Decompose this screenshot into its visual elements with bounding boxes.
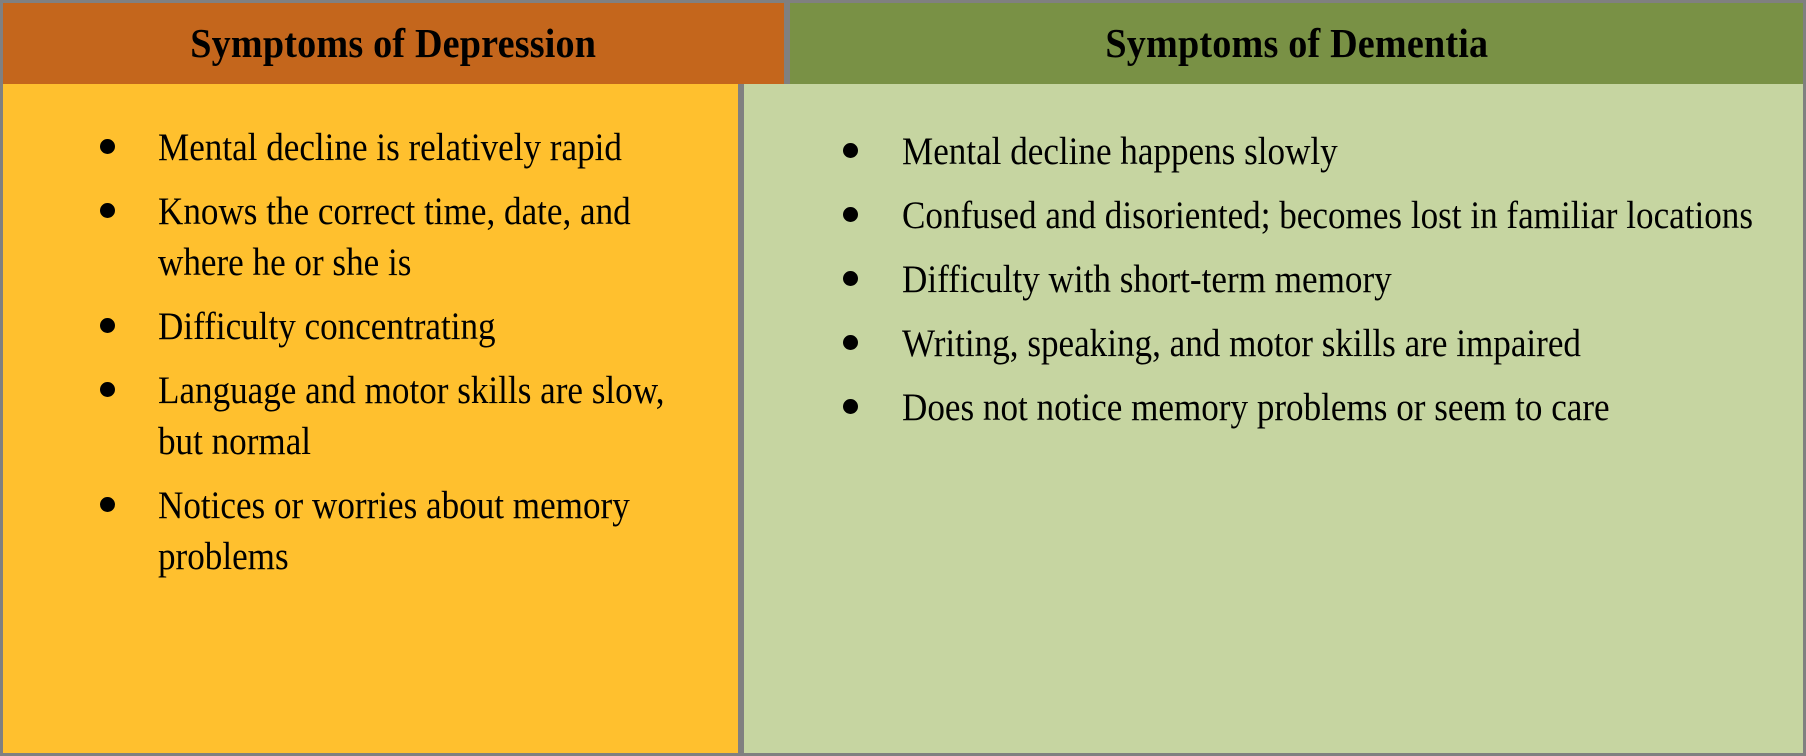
symptom-list-depression: Mental decline is relatively rapid Knows… bbox=[3, 122, 712, 582]
bullet-icon bbox=[100, 318, 115, 333]
bullet-icon bbox=[100, 382, 115, 397]
list-item-text: Language and motor skills are slow, but … bbox=[158, 365, 713, 467]
comparison-table: Symptoms of Depression Symptoms of Demen… bbox=[0, 0, 1806, 756]
body-cell-depression: Mental decline is relatively rapid Knows… bbox=[3, 84, 738, 753]
list-item-text: Difficulty with short-term memory bbox=[902, 254, 1782, 305]
list-item-text: Writing, speaking, and motor skills are … bbox=[902, 318, 1782, 369]
header-cell-depression: Symptoms of Depression bbox=[3, 3, 784, 84]
header-cell-dementia: Symptoms of Dementia bbox=[790, 3, 1803, 84]
list-item: Difficulty concentrating bbox=[3, 301, 712, 352]
column-header-dementia: Symptoms of Dementia bbox=[1105, 23, 1488, 64]
symptom-list-dementia: Mental decline happens slowly Confused a… bbox=[744, 126, 1781, 433]
list-item: Mental decline happens slowly bbox=[744, 126, 1781, 177]
list-item-text: Mental decline is relatively rapid bbox=[158, 122, 713, 173]
bullet-icon bbox=[843, 399, 858, 414]
list-item: Writing, speaking, and motor skills are … bbox=[744, 318, 1781, 369]
bullet-icon bbox=[843, 335, 858, 350]
list-item-text: Knows the correct time, date, and where … bbox=[158, 186, 713, 288]
bullet-icon bbox=[843, 143, 858, 158]
list-item-text: Difficulty concentrating bbox=[158, 301, 713, 352]
list-item: Mental decline is relatively rapid bbox=[3, 122, 712, 173]
table-header-row: Symptoms of Depression Symptoms of Demen… bbox=[0, 0, 1806, 84]
list-item: Language and motor skills are slow, but … bbox=[3, 365, 712, 467]
bullet-icon bbox=[843, 207, 858, 222]
column-header-depression: Symptoms of Depression bbox=[191, 23, 597, 64]
list-item-text: Notices or worries about memory problems bbox=[158, 480, 713, 582]
bullet-icon bbox=[100, 139, 115, 154]
list-item: Confused and disoriented; becomes lost i… bbox=[744, 190, 1781, 241]
list-item: Knows the correct time, date, and where … bbox=[3, 186, 712, 288]
list-item: Does not notice memory problems or seem … bbox=[744, 382, 1781, 433]
list-item-text: Confused and disoriented; becomes lost i… bbox=[902, 190, 1782, 241]
list-item: Difficulty with short-term memory bbox=[744, 254, 1781, 305]
table-body-row: Mental decline is relatively rapid Knows… bbox=[0, 84, 1806, 756]
list-item: Notices or worries about memory problems bbox=[3, 480, 712, 582]
bullet-icon bbox=[843, 271, 858, 286]
bullet-icon bbox=[100, 203, 115, 218]
list-item-text: Does not notice memory problems or seem … bbox=[902, 382, 1782, 433]
body-cell-dementia: Mental decline happens slowly Confused a… bbox=[744, 84, 1803, 753]
list-item-text: Mental decline happens slowly bbox=[902, 126, 1782, 177]
bullet-icon bbox=[100, 497, 115, 512]
